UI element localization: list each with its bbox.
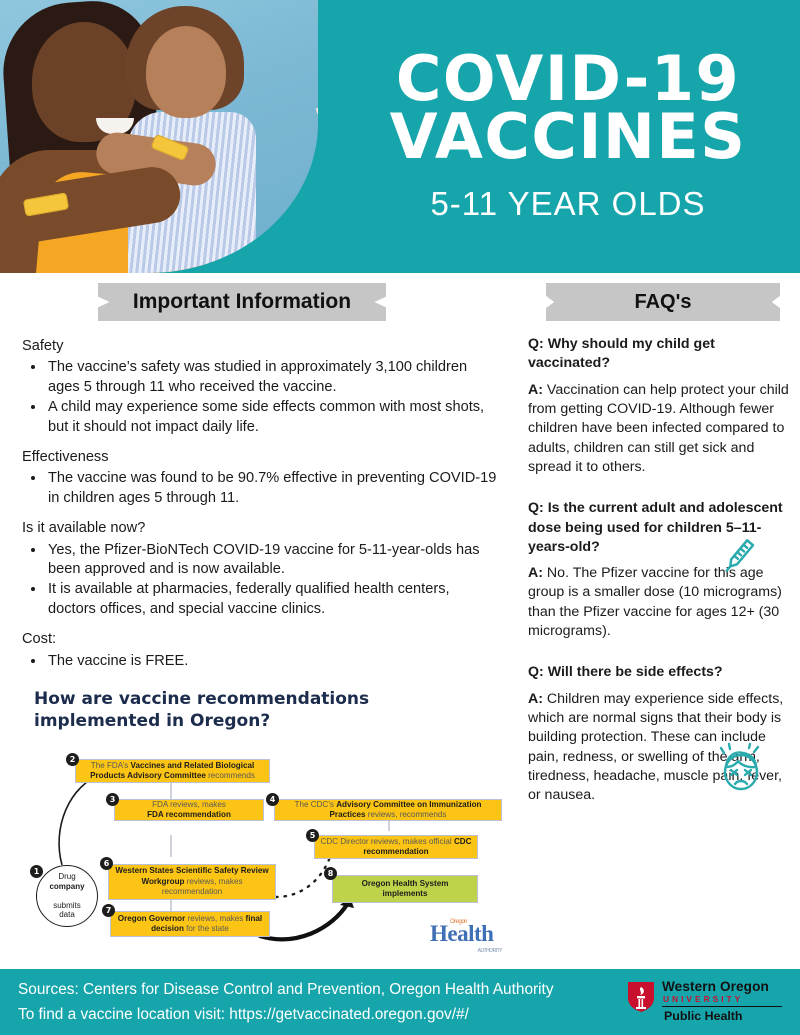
sick-face-icon xyxy=(712,741,770,795)
left-column: Important Information Safety The vaccine… xyxy=(0,273,520,963)
right-column: FAQ's Q: Why should my child get vaccina… xyxy=(524,273,800,963)
flow-step-6-box: Western States Scientific Safety Review … xyxy=(108,864,276,900)
flow-step-7-box: Oregon Governor reviews, makes final dec… xyxy=(110,911,270,937)
oha-logo-h: H xyxy=(430,921,447,946)
flow-step-1-circle: Drugcompanysubmitsdata xyxy=(36,865,98,927)
list-item: Yes, the Pfizer-BioNTech COVID-19 vaccin… xyxy=(46,541,498,580)
page-subtitle: 5-11 YEAR OLDS xyxy=(430,185,705,223)
wou-logo: Western Oregon UNIVERSITY Public Health xyxy=(626,979,786,1027)
page-title: COVID-19 VACCINES xyxy=(390,50,747,164)
wou-shield-torch-icon xyxy=(626,979,656,1013)
section-heading-availability: Is it available now? xyxy=(22,519,498,538)
flow-step-8-box: Oregon Health Systemimplements xyxy=(332,875,478,903)
flow-step-3-box: FDA reviews, makesFDA recommendation xyxy=(114,799,264,821)
faq-answer-label: A: xyxy=(528,565,543,581)
faq-banner: FAQ's xyxy=(546,283,780,321)
photo-child-smile xyxy=(316,108,318,120)
infographic-page: COVID-19 VACCINES 5-11 YEAR OLDS Importa… xyxy=(0,0,800,1035)
oha-logo-bottom: AUTHORITY xyxy=(478,948,502,954)
section-heading-cost: Cost: xyxy=(22,630,498,649)
flow-step-4-text: The CDC’s Advisory Committee on Immuniza… xyxy=(280,800,496,821)
flow-step-number-2: 2 xyxy=(66,753,79,766)
flow-step-1-text: Drugcompanysubmitsdata xyxy=(49,872,84,919)
flow-step-4-box: The CDC’s Advisory Committee on Immuniza… xyxy=(274,799,502,821)
flow-step-7-text: Oregon Governor reviews, makes final dec… xyxy=(116,914,264,935)
flow-connector-2-3 xyxy=(170,781,172,799)
footer-find-line[interactable]: To find a vaccine location visit: https:… xyxy=(18,1003,618,1028)
faq-answer: A: Vaccination can help protect your chi… xyxy=(528,381,792,478)
flow-step-2-text: The FDA’s Vaccines and Related Biologica… xyxy=(81,761,264,782)
list-item: A child may experience some side effects… xyxy=(46,398,498,437)
flow-step-5-text: CDC Director reviews, makes official CDC… xyxy=(320,837,472,858)
flow-step-number-3: 3 xyxy=(106,793,119,806)
flow-step-number-5: 5 xyxy=(306,829,319,842)
flow-step-3-text: FDA reviews, makesFDA recommendation xyxy=(147,800,231,821)
footer-bar: Sources: Centers for Disease Control and… xyxy=(0,969,800,1035)
flow-step-5-box: CDC Director reviews, makes official CDC… xyxy=(314,835,478,859)
oha-logo-top: Oregon xyxy=(450,919,467,925)
flow-step-number-1: 1 xyxy=(30,865,43,878)
footer-text-block: Sources: Centers for Disease Control and… xyxy=(18,978,618,1028)
header-title-block: COVID-19 VACCINES 5-11 YEAR OLDS xyxy=(336,0,800,273)
content-area: Important Information Safety The vaccine… xyxy=(0,273,800,963)
list-item: The vaccine is FREE. xyxy=(46,652,498,671)
faq-answer-label: A: xyxy=(528,382,543,398)
flow-step-number-6: 6 xyxy=(100,857,113,870)
flow-connector-6-7 xyxy=(170,899,172,911)
section-list-effectiveness: The vaccine was found to be 90.7% effect… xyxy=(22,469,498,508)
flowchart-title: How are vaccine recommendations implemen… xyxy=(34,689,394,733)
flow-connector-3-6 xyxy=(170,835,172,857)
list-item: The vaccine was found to be 90.7% effect… xyxy=(46,469,498,508)
flow-step-2-box: The FDA’s Vaccines and Related Biologica… xyxy=(75,759,270,783)
flow-step-6-text: Western States Scientific Safety Review … xyxy=(114,866,270,897)
section-heading-effectiveness: Effectiveness xyxy=(22,448,498,467)
footer-sources-line: Sources: Centers for Disease Control and… xyxy=(18,978,618,1003)
section-heading-safety: Safety xyxy=(22,337,498,356)
flow-step-number-8: 8 xyxy=(324,867,337,880)
faq-question: Q: Will there be side effects? xyxy=(528,663,792,682)
important-information-banner: Important Information xyxy=(98,283,386,321)
flow-step-number-7: 7 xyxy=(102,904,115,917)
arrow-step7-to-step8 xyxy=(260,903,348,939)
wou-logo-university: UNIVERSITY xyxy=(663,994,743,1004)
photo-adult-face xyxy=(32,22,136,142)
wou-logo-department: Public Health xyxy=(664,1009,743,1023)
faq-answer-text: Vaccination can help protect your child … xyxy=(528,382,789,475)
section-list-availability: Yes, the Pfizer-BioNTech COVID-19 vaccin… xyxy=(22,541,498,620)
arrow-step1-to-step2 xyxy=(59,773,104,865)
faq-answer-label: A: xyxy=(528,691,543,707)
syringe-icon xyxy=(716,533,762,579)
list-item: The vaccine’s safety was studied in appr… xyxy=(46,358,498,397)
wou-logo-name: Western Oregon xyxy=(662,979,769,994)
title-line-2: VACCINES xyxy=(390,108,747,165)
oregon-health-authority-logo: Oregon Health AUTHORITY xyxy=(430,921,504,955)
photo-child-face xyxy=(146,26,226,118)
oregon-recommendation-flowchart: How are vaccine recommendations implemen… xyxy=(18,689,508,951)
list-item: It is available at pharmacies, federally… xyxy=(46,580,498,619)
important-information-body: Safety The vaccine’s safety was studied … xyxy=(0,321,520,671)
section-list-safety: The vaccine’s safety was studied in appr… xyxy=(22,358,498,437)
flow-step-8-text: Oregon Health Systemimplements xyxy=(362,879,449,900)
faq-list: Q: Why should my child get vaccinated? A… xyxy=(524,321,800,806)
header-photo xyxy=(0,0,318,273)
header-banner: COVID-19 VACCINES 5-11 YEAR OLDS xyxy=(0,0,800,273)
faq-question: Q: Why should my child get vaccinated? xyxy=(528,335,792,374)
section-list-cost: The vaccine is FREE. xyxy=(22,652,498,671)
wou-logo-divider xyxy=(662,1006,782,1007)
flow-step-number-4: 4 xyxy=(266,793,279,806)
